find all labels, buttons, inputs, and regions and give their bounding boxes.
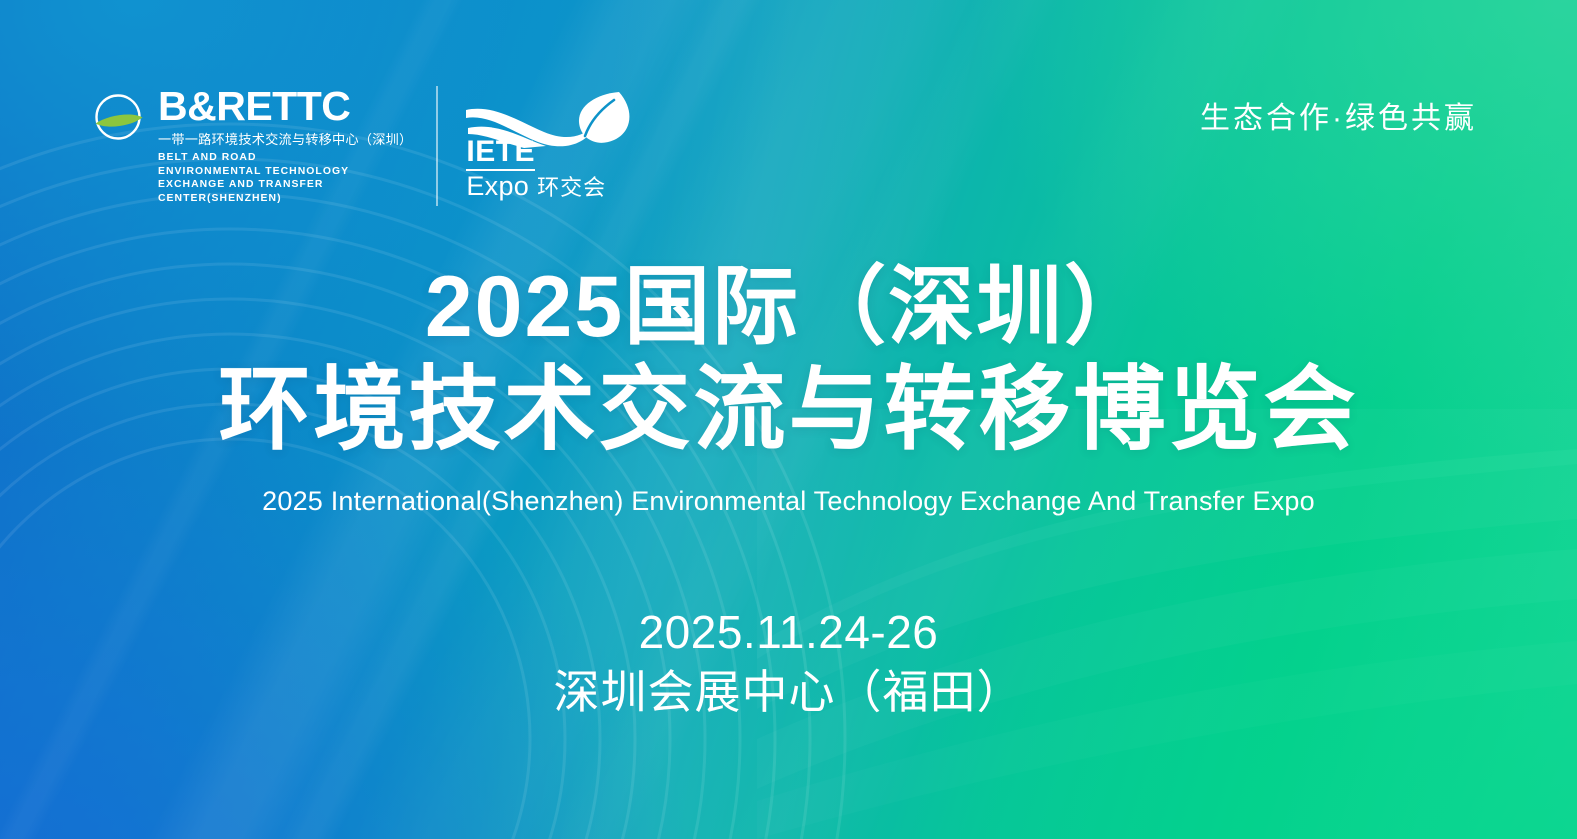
brettc-english-name: BELT AND ROAD ENVIRONMENTAL TECHNOLOGY E… xyxy=(158,151,358,206)
subtitle-english: 2025 International(Shenzhen) Environment… xyxy=(0,488,1577,515)
iete-expo-label: Expo xyxy=(466,173,529,200)
iete-wordmark: IETE xyxy=(466,137,535,171)
event-date: 2025.11.24-26 xyxy=(0,605,1577,659)
iete-subtitle: Expo 环交会 xyxy=(466,173,606,200)
logo-row: B&RETTC 一带一路环境技术交流与转移中心（深圳） BELT AND ROA… xyxy=(92,86,639,206)
tagline: 生态合作·绿色共赢 xyxy=(1200,104,1477,134)
event-meta-block: 2025.11.24-26 深圳会展中心（福田） xyxy=(0,605,1577,720)
event-banner: B&RETTC 一带一路环境技术交流与转移中心（深圳） BELT AND ROA… xyxy=(0,0,1577,839)
event-venue: 深圳会展中心（福田） xyxy=(0,665,1577,719)
brettc-logo[interactable]: B&RETTC 一带一路环境技术交流与转移中心（深圳） BELT AND ROA… xyxy=(92,86,438,206)
iete-chinese-short: 环交会 xyxy=(537,177,606,199)
iete-expo-logo[interactable]: IETE Expo 环交会 xyxy=(464,88,639,193)
globe-icon xyxy=(92,92,146,147)
brettc-chinese-name: 一带一路环境技术交流与转移中心（深圳） xyxy=(158,132,412,148)
brettc-acronym: B&RETTC xyxy=(158,86,412,127)
title-line-2: 环境技术交流与转移博览会 xyxy=(0,359,1577,462)
headline-block: 2025国际（深圳） 环境技术交流与转移博览会 2025 Internation… xyxy=(0,262,1577,515)
title-line-1: 2025国际（深圳） xyxy=(0,262,1577,353)
